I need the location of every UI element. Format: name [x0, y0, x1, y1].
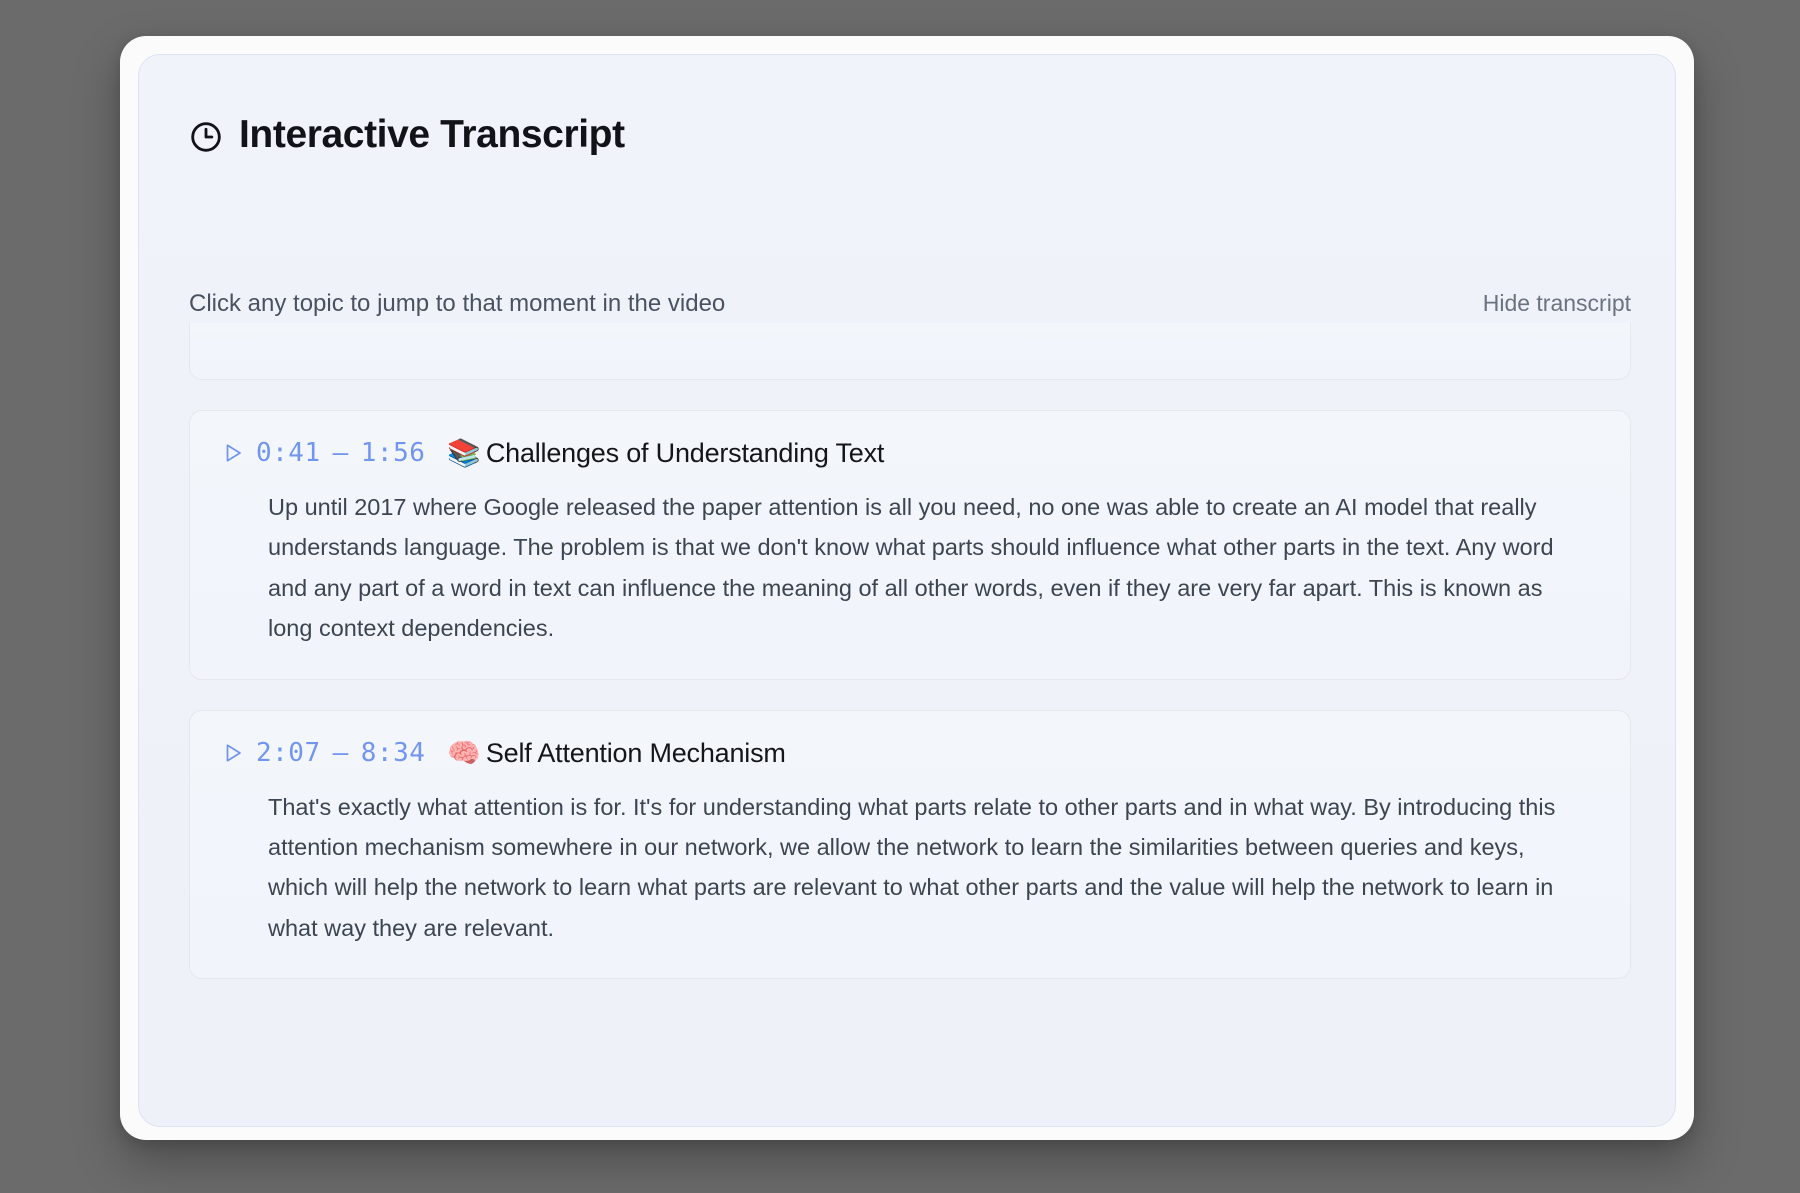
brain-icon: 🧠 [447, 738, 480, 769]
segment-title[interactable]: 📚Challenges of Understanding Text [447, 437, 884, 469]
transcript-list[interactable]: 0:41 – 1:56 📚Challenges of Understanding… [189, 323, 1631, 1104]
segment-transcript-text: That's exactly what attention is for. It… [222, 787, 1598, 949]
page-title: Interactive Transcript [239, 113, 625, 157]
segment-header[interactable]: 0:41 – 1:56 📚Challenges of Understanding… [222, 437, 1598, 469]
segment-timecode-start[interactable]: 0:41 [256, 438, 321, 468]
list-item[interactable]: 0:41 – 1:56 📚Challenges of Understanding… [189, 410, 1631, 680]
panel-header: Interactive Transcript [189, 113, 625, 157]
play-icon[interactable] [222, 442, 244, 464]
segment-header[interactable]: 2:07 – 8:34 🧠Self Attention Mechanism [222, 737, 1598, 769]
list-item[interactable]: 2:07 – 8:34 🧠Self Attention Mechanism Th… [189, 710, 1631, 980]
segment-timecode-end[interactable]: 8:34 [361, 738, 426, 768]
segment-timecode-separator: – [321, 438, 361, 468]
segment-title-text: Challenges of Understanding Text [486, 438, 884, 468]
books-icon: 📚 [447, 438, 480, 469]
list-item[interactable] [189, 323, 1631, 380]
segment-timecode-end[interactable]: 1:56 [361, 438, 426, 468]
segment-transcript-text: Up until 2017 where Google released the … [222, 487, 1598, 649]
subtitle-row: Click any topic to jump to that moment i… [189, 290, 1631, 318]
transcript-hint: Click any topic to jump to that moment i… [189, 290, 725, 318]
segment-timecode-separator: – [321, 738, 361, 768]
play-icon[interactable] [222, 742, 244, 764]
hide-transcript-button[interactable]: Hide transcript [1483, 290, 1631, 317]
window-shell: Interactive Transcript Click any topic t… [120, 36, 1694, 1140]
clock-icon [189, 120, 223, 154]
transcript-panel: Interactive Transcript Click any topic t… [138, 54, 1676, 1127]
segment-title-text: Self Attention Mechanism [486, 738, 786, 768]
segment-timecode-start[interactable]: 2:07 [256, 738, 321, 768]
segment-title[interactable]: 🧠Self Attention Mechanism [447, 737, 785, 769]
